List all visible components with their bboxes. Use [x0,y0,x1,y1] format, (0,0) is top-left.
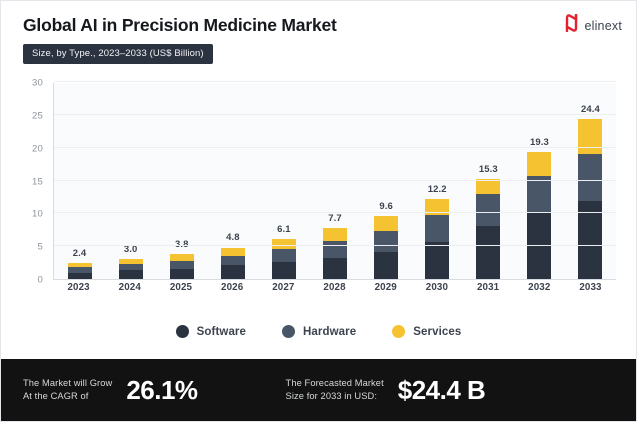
bar-segment-hardware[interactable] [221,256,245,265]
bar-total-label: 12.2 [428,184,447,195]
bar-column[interactable]: 19.3 [514,83,565,279]
gridline [54,212,616,213]
gridline [54,81,616,82]
bar-stack[interactable] [170,254,194,279]
x-axis-tick: 2026 [207,282,258,293]
y-axis-tick: 10 [32,209,43,220]
bar-segment-hardware[interactable] [170,261,194,269]
bars-layer: 2.43.03.84.86.17.79.612.215.319.324.4 [54,83,616,279]
bar-segment-hardware[interactable] [578,154,602,201]
infographic-card: Global AI in Precision Medicine Market S… [0,0,637,422]
bar-segment-services[interactable] [476,179,500,194]
x-axis-tick: 2031 [463,282,514,293]
footer-stat-caption: The Forecasted Market Size for 2033 in U… [286,377,384,404]
footer-stat-value: 26.1% [126,375,197,406]
bar-stack[interactable] [119,259,143,279]
bar-total-label: 9.6 [379,201,393,212]
legend-swatch-icon [282,325,295,338]
elinext-n-mark-icon [564,14,579,37]
legend-label: Software [197,326,246,338]
x-axis-tick: 2023 [53,282,104,293]
footer-stat-block: The Forecasted Market Size for 2033 in U… [286,375,486,406]
plot-frame: 051015202530 2.43.03.84.86.17.79.612.215… [15,83,622,315]
bar-segment-services[interactable] [374,216,398,231]
y-axis-tick: 5 [38,242,43,253]
bar-segment-hardware[interactable] [527,176,551,213]
x-axis-tick: 2029 [360,282,411,293]
y-axis-tick: 25 [32,110,43,121]
footer-stat-value: $24.4 B [398,375,486,406]
bar-stack[interactable] [323,228,347,279]
bar-stack[interactable] [374,216,398,279]
legend-label: Services [413,326,461,338]
gridline [54,180,616,181]
bar-total-label: 2.4 [73,248,87,259]
bar-column[interactable]: 4.8 [207,83,258,279]
plot-area: 2.43.03.84.86.17.79.612.215.319.324.4 [53,83,616,280]
legend-swatch-icon [176,325,189,338]
chart-container: 051015202530 2.43.03.84.86.17.79.612.215… [1,73,636,359]
brand-logo-text: elinext [584,19,622,33]
x-axis-tick: 2032 [514,282,565,293]
bar-segment-hardware[interactable] [476,194,500,227]
x-axis-tick: 2025 [155,282,206,293]
footer-stat-caption: The Market will Grow At the CAGR of [23,377,112,404]
bar-segment-software[interactable] [374,252,398,279]
bar-stack[interactable] [578,119,602,279]
bar-total-label: 6.1 [277,224,291,235]
brand-logo: elinext [564,14,622,37]
subtitle-badge: Size, by Type., 2023–2033 (US$ Billion) [23,44,213,64]
bar-segment-hardware[interactable] [374,231,398,252]
bar-column[interactable]: 12.2 [412,83,463,279]
bar-stack[interactable] [68,263,92,279]
bar-column[interactable]: 6.1 [258,83,309,279]
y-axis-tick: 0 [38,275,43,286]
x-axis-tick: 2024 [104,282,155,293]
chart-legend: SoftwareHardwareServices [15,325,622,338]
bar-column[interactable]: 3.0 [105,83,156,279]
y-axis: 051015202530 [15,83,49,280]
bar-total-label: 7.7 [328,213,342,224]
bar-segment-services[interactable] [578,119,602,154]
legend-item-services[interactable]: Services [392,325,461,338]
x-axis-tick: 2027 [258,282,309,293]
legend-item-software[interactable]: Software [176,325,246,338]
gridline [54,114,616,115]
x-axis-tick: 2033 [565,282,616,293]
bar-segment-software[interactable] [68,273,92,279]
bar-segment-software[interactable] [323,258,347,279]
bar-segment-services[interactable] [323,228,347,240]
footer-stat-block: The Market will Grow At the CAGR of26.1% [23,375,198,406]
bar-segment-software[interactable] [425,242,449,279]
bar-segment-software[interactable] [476,226,500,279]
legend-swatch-icon [392,325,405,338]
bar-stack[interactable] [476,179,500,279]
header: Global AI in Precision Medicine Market S… [1,1,636,73]
bar-column[interactable]: 24.4 [565,83,616,279]
legend-item-hardware[interactable]: Hardware [282,325,356,338]
bar-segment-services[interactable] [221,248,245,257]
page-title: Global AI in Precision Medicine Market [23,15,618,35]
bar-segment-software[interactable] [221,265,245,279]
bar-segment-software[interactable] [170,269,194,280]
bar-column[interactable]: 7.7 [309,83,360,279]
bar-total-label: 15.3 [479,164,498,175]
gridline [54,245,616,246]
bar-column[interactable]: 15.3 [463,83,514,279]
bar-segment-software[interactable] [527,213,551,279]
bar-column[interactable]: 3.8 [156,83,207,279]
bar-total-label: 4.8 [226,232,240,243]
bar-segment-hardware[interactable] [272,249,296,261]
x-axis-tick: 2030 [411,282,462,293]
footer-stats-bar: The Market will Grow At the CAGR of26.1%… [1,359,636,421]
bar-column[interactable]: 9.6 [361,83,412,279]
legend-label: Hardware [303,326,356,338]
bar-segment-hardware[interactable] [323,241,347,258]
y-axis-tick: 20 [32,143,43,154]
bar-segment-services[interactable] [527,152,551,176]
bar-segment-software[interactable] [272,262,296,279]
bar-segment-software[interactable] [119,270,143,279]
y-axis-tick: 30 [32,78,43,89]
bar-column[interactable]: 2.4 [54,83,105,279]
bar-stack[interactable] [221,248,245,280]
x-axis: 2023202420252026202720282029203020312032… [53,282,616,293]
bar-stack[interactable] [425,199,449,279]
y-axis-tick: 15 [32,176,43,187]
bar-segment-hardware[interactable] [425,215,449,243]
bar-stack[interactable] [527,152,551,279]
x-axis-tick: 2028 [309,282,360,293]
gridline [54,147,616,148]
